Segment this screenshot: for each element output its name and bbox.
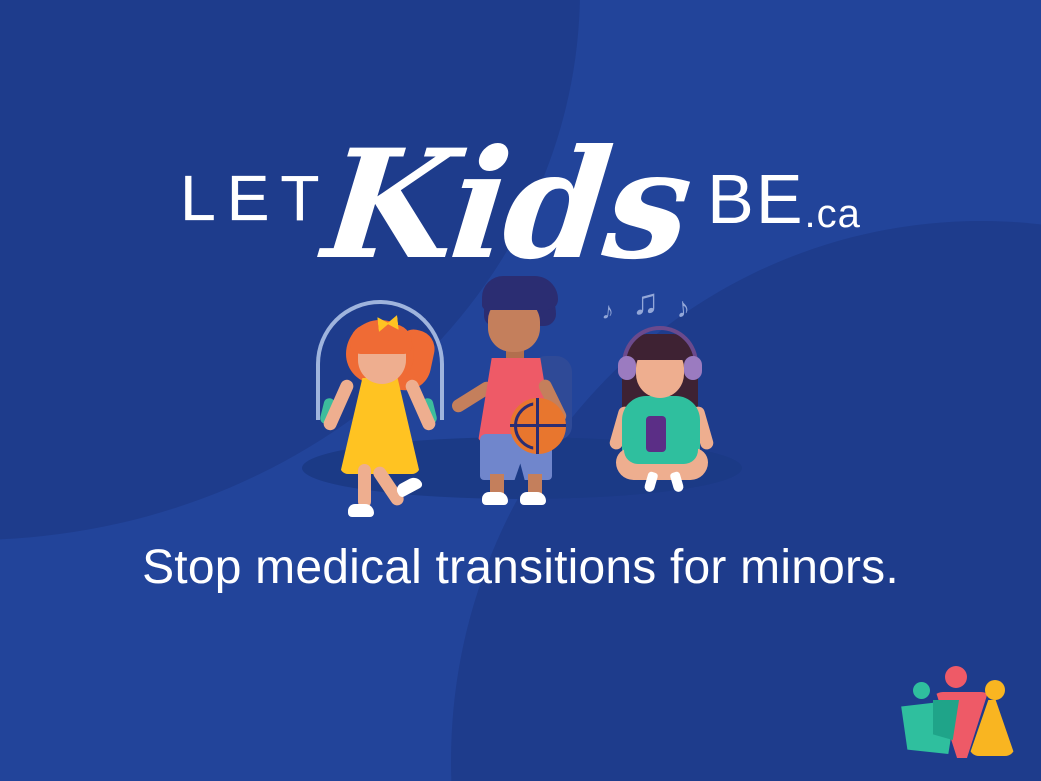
children-illustration: ♪ ♫ ♪ (290, 272, 750, 507)
girl-leg-left (358, 464, 371, 508)
boy-shoe-right (520, 492, 546, 505)
child-girl-with-headphones: ♪ ♫ ♪ (590, 288, 740, 498)
brand-logo-three-people[interactable] (893, 662, 1015, 760)
music-note-icon-1: ♪ (601, 299, 615, 324)
basketball-curve (514, 402, 562, 450)
headphone-cup-left (618, 356, 636, 380)
tagline-text: Stop medical transitions for minors. (0, 540, 1041, 595)
music-note-icon-2: ♫ (632, 284, 659, 320)
logo-word-let: LET (180, 166, 330, 230)
smartphone-icon (646, 416, 666, 452)
logo-figure-yellow-head (985, 680, 1005, 700)
logo-figure-red-head (945, 666, 967, 688)
girl-shoe-left (348, 504, 374, 517)
logo-word-be: BE (707, 164, 804, 234)
basketball-icon (510, 398, 566, 454)
site-logo-wordmark[interactable]: LET Kids BE .ca (0, 96, 1041, 256)
headphone-cup-right (684, 356, 702, 380)
logo-word-tld: .ca (805, 194, 861, 234)
boy-shoe-left (482, 492, 508, 505)
logo-figure-green-head (913, 682, 930, 699)
logo-word-kids: Kids (319, 130, 695, 280)
boy-hair-top (482, 276, 558, 310)
child-girl-skipping-rope (300, 294, 460, 494)
music-note-icon-3: ♪ (675, 293, 691, 322)
child-boy-with-basketball (458, 274, 598, 496)
poster-canvas: LET Kids BE .ca (0, 0, 1041, 781)
